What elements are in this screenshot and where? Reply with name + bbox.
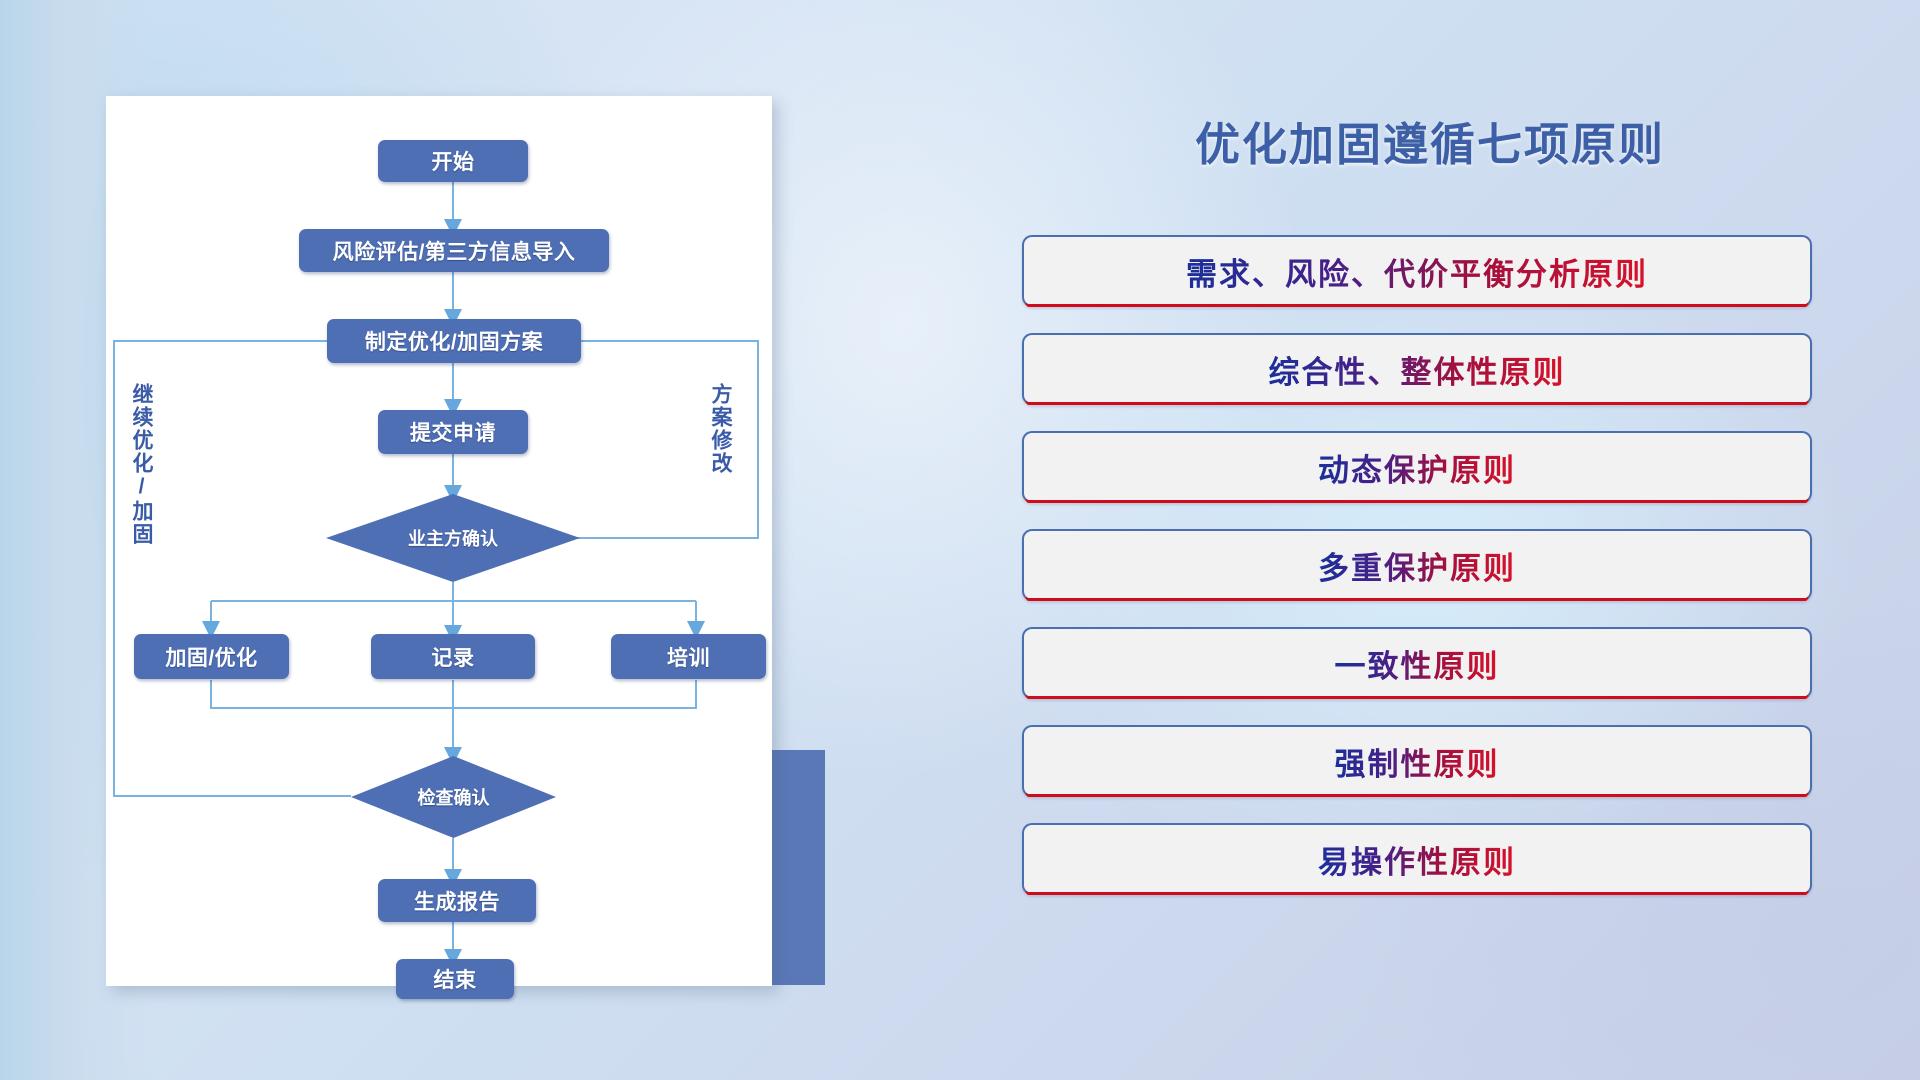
- principle-card[interactable]: 动态保护原则: [1022, 431, 1812, 503]
- flow-edge-label-right: 方案修改: [709, 383, 731, 475]
- slide-canvas: 开始 风险评估/第三方信息导入 制定优化/加固方案 提交申请 业主方确认 加固/…: [0, 0, 1920, 1080]
- flow-node-label: 记录: [432, 642, 475, 672]
- flow-edge-label-left: 继续优化/加固: [130, 383, 152, 546]
- flow-node-label: 培训: [667, 642, 710, 672]
- flow-node-plan[interactable]: 制定优化/加固方案: [327, 319, 581, 363]
- principle-label: 需求、风险、代价平衡分析原则: [1186, 249, 1648, 294]
- principle-label: 多重保护原则: [1318, 543, 1516, 588]
- principle-label: 易操作性原则: [1318, 837, 1516, 882]
- flow-node-record[interactable]: 记录: [371, 634, 535, 679]
- principle-card[interactable]: 多重保护原则: [1022, 529, 1812, 601]
- principles-list: 需求、风险、代价平衡分析原则 综合性、整体性原则 动态保护原则 多重保护原则 一…: [1022, 235, 1812, 921]
- flow-node-submit-application[interactable]: 提交申请: [378, 410, 528, 454]
- principle-label: 综合性、整体性原则: [1269, 347, 1566, 392]
- flow-node-label: 风险评估/第三方信息导入: [333, 236, 576, 266]
- principle-card[interactable]: 强制性原则: [1022, 725, 1812, 797]
- flow-node-label: 开始: [432, 146, 475, 176]
- principle-card[interactable]: 易操作性原则: [1022, 823, 1812, 895]
- flow-node-label: 业主方确认: [408, 525, 498, 551]
- flow-node-training[interactable]: 培训: [611, 634, 766, 679]
- principle-card[interactable]: 一致性原则: [1022, 627, 1812, 699]
- flow-node-label: 制定优化/加固方案: [365, 326, 543, 356]
- principles-title: 优化加固遵循七项原则: [1150, 108, 1710, 173]
- flow-node-reinforce-optimize[interactable]: 加固/优化: [134, 634, 289, 679]
- flow-node-label: 生成报告: [414, 886, 500, 916]
- flow-node-label: 加固/优化: [165, 642, 257, 672]
- flow-node-label: 检查确认: [418, 784, 490, 810]
- flow-node-end[interactable]: 结束: [396, 959, 514, 999]
- flow-node-start[interactable]: 开始: [378, 140, 528, 182]
- principle-card[interactable]: 综合性、整体性原则: [1022, 333, 1812, 405]
- principle-label: 动态保护原则: [1318, 445, 1516, 490]
- principle-label: 一致性原则: [1335, 641, 1500, 686]
- flow-node-label: 提交申请: [410, 417, 496, 447]
- principle-card[interactable]: 需求、风险、代价平衡分析原则: [1022, 235, 1812, 307]
- flow-node-label: 结束: [434, 964, 477, 994]
- flow-node-generate-report[interactable]: 生成报告: [378, 879, 536, 922]
- flow-node-risk-assessment[interactable]: 风险评估/第三方信息导入: [299, 229, 609, 272]
- flowchart-card: 开始 风险评估/第三方信息导入 制定优化/加固方案 提交申请 业主方确认 加固/…: [106, 96, 772, 986]
- principle-label: 强制性原则: [1335, 739, 1500, 784]
